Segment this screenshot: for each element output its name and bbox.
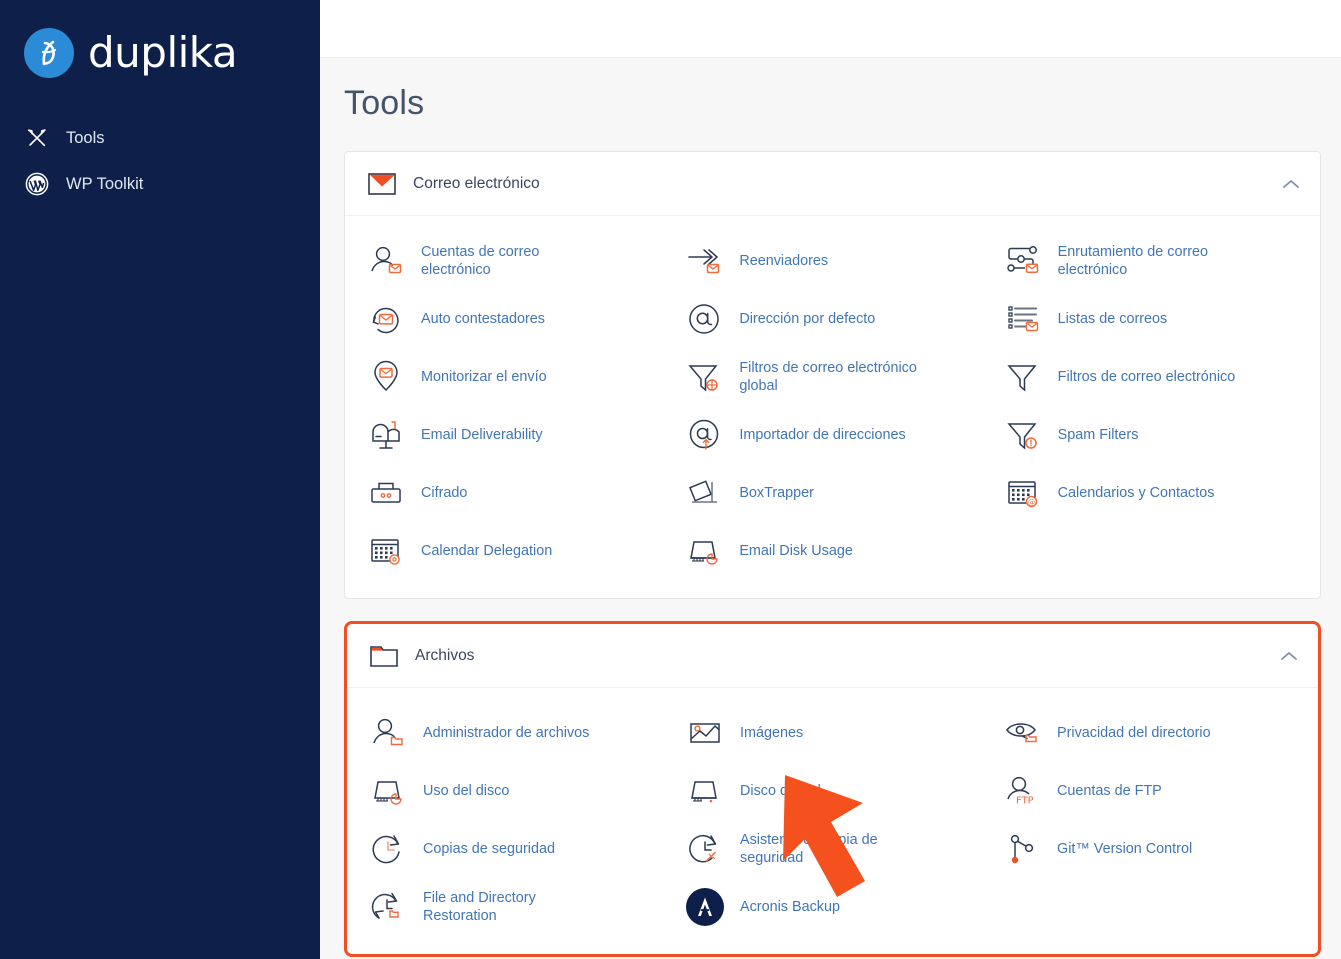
- tool-label: Copias de seguridad: [423, 840, 555, 858]
- content-area: Correo electrónico: [320, 123, 1341, 959]
- tool-email-disk-usage[interactable]: Email Disk Usage: [673, 522, 991, 580]
- section-correo-electronico: Correo electrónico: [344, 151, 1321, 599]
- top-bar: [320, 0, 1341, 58]
- tool-file-and-directory-restoration[interactable]: File and Directory Restoration: [357, 878, 674, 936]
- tool-label: Importador de direcciones: [739, 426, 905, 444]
- global-filter-icon: [685, 358, 723, 396]
- section-body: Cuentas de correo electrónico: [345, 216, 1320, 598]
- tool-enrutamiento-de-correo-electronico[interactable]: Enrutamiento de correo electrónico: [992, 232, 1310, 290]
- network-disk-icon: [686, 772, 724, 810]
- tool-label: Administrador de archivos: [423, 724, 589, 742]
- tool-acronis-backup[interactable]: Acronis Backup: [674, 878, 991, 936]
- app-root: duplika Tools: [0, 0, 1341, 959]
- filter-icon: [1004, 358, 1042, 396]
- tool-label: Listas de correos: [1058, 310, 1168, 328]
- section-archivos: Archivos: [344, 621, 1321, 957]
- chevron-up-icon[interactable]: [1280, 173, 1302, 195]
- sidebar: duplika Tools: [0, 0, 320, 959]
- tool-label: Enrutamiento de correo electrónico: [1058, 243, 1248, 280]
- tool-listas-de-correos[interactable]: Listas de correos: [992, 290, 1310, 348]
- duplika-logo-icon: [24, 28, 74, 78]
- tool-filtros-de-correo-electronico[interactable]: Filtros de correo electrónico: [992, 348, 1310, 406]
- chevron-up-icon[interactable]: [1278, 645, 1300, 667]
- wordpress-icon: [24, 171, 50, 197]
- brand[interactable]: duplika: [0, 0, 320, 80]
- backup-wizard-icon: [686, 830, 724, 868]
- tool-copias-de-seguridad[interactable]: Copias de seguridad: [357, 820, 674, 878]
- tool-label: Asistente de copia de seguridad: [740, 831, 930, 868]
- page-title: Tools: [320, 58, 1341, 123]
- section-title: Archivos: [415, 647, 474, 665]
- tool-label: Filtros de correo electrónico: [1058, 368, 1236, 386]
- tool-asistente-de-copia-de-seguridad[interactable]: Asistente de copia de seguridad: [674, 820, 991, 878]
- at-circle-icon: [685, 300, 723, 338]
- tool-label: Auto contestadores: [421, 310, 545, 328]
- tool-git-version-control[interactable]: Git™ Version Control: [991, 820, 1308, 878]
- tool-importador-de-direcciones[interactable]: Importador de direcciones: [673, 406, 991, 464]
- tools-grid: Cuentas de correo electrónico: [355, 232, 1310, 580]
- mail-routing-icon: [1004, 242, 1042, 280]
- tool-filtros-de-correo-electronico-global[interactable]: Filtros de correo electrónico global: [673, 348, 991, 406]
- directory-privacy-eye-icon: [1003, 714, 1041, 752]
- svg-text:@: @: [1028, 498, 1035, 506]
- tool-administrador-de-archivos[interactable]: Administrador de archivos: [357, 704, 674, 762]
- email-disk-usage-icon: [685, 532, 723, 570]
- tool-label: Email Disk Usage: [739, 542, 853, 560]
- envelope-icon: [367, 169, 397, 199]
- user-mail-icon: [367, 242, 405, 280]
- images-icon: [686, 714, 724, 752]
- git-branch-icon: [1003, 830, 1041, 868]
- backup-clock-icon: [369, 830, 407, 868]
- tool-email-deliverability[interactable]: Email Deliverability: [355, 406, 673, 464]
- section-header[interactable]: Correo electrónico: [345, 152, 1320, 216]
- tools-wrench-icon: [24, 125, 50, 151]
- sidebar-item-label: Tools: [66, 129, 105, 148]
- tool-label: Disco de red: [740, 782, 821, 800]
- tool-label: Calendar Delegation: [421, 542, 552, 560]
- tool-label: File and Directory Restoration: [423, 889, 613, 926]
- tool-label: Uso del disco: [423, 782, 509, 800]
- acronis-badge-icon: [686, 888, 724, 926]
- tool-cuentas-de-ftp[interactable]: FTP Cuentas de FTP: [991, 762, 1308, 820]
- main-content: Tools Correo electrónico: [320, 0, 1341, 959]
- svg-text:FTP: FTP: [1016, 796, 1034, 807]
- user-folder-icon: [369, 714, 407, 752]
- tool-direccion-por-defecto[interactable]: Dirección por defecto: [673, 290, 991, 348]
- tool-label: Acronis Backup: [740, 898, 840, 916]
- tool-imagenes[interactable]: Imágenes: [674, 704, 991, 762]
- tools-grid: Administrador de archivos Imágenes: [357, 704, 1308, 936]
- tool-label: Cifrado: [421, 484, 467, 502]
- tool-label: Cuentas de FTP: [1057, 782, 1162, 800]
- encryption-lock-icon: [367, 474, 405, 512]
- tool-uso-del-disco[interactable]: Uso del disco: [357, 762, 674, 820]
- disk-usage-icon: [369, 772, 407, 810]
- folder-icon: [369, 641, 399, 671]
- tool-boxtrapper[interactable]: BoxTrapper: [673, 464, 991, 522]
- sidebar-item-tools[interactable]: Tools: [0, 115, 320, 161]
- sidebar-item-wp-toolkit[interactable]: WP Toolkit: [0, 161, 320, 207]
- tool-label: Calendarios y Contactos: [1058, 484, 1215, 502]
- tool-label: BoxTrapper: [739, 484, 814, 502]
- tool-monitorizar-el-envio[interactable]: Monitorizar el envío: [355, 348, 673, 406]
- tool-label: Privacidad del directorio: [1057, 724, 1211, 742]
- ftp-accounts-icon: FTP: [1003, 772, 1041, 810]
- mailbox-icon: [367, 416, 405, 454]
- tool-label: Monitorizar el envío: [421, 368, 547, 386]
- brand-name: duplika: [88, 32, 237, 74]
- tool-privacidad-del-directorio[interactable]: Privacidad del directorio: [991, 704, 1308, 762]
- forwarders-arrow-icon: [685, 242, 723, 280]
- tool-spam-filters[interactable]: Spam Filters: [992, 406, 1310, 464]
- tool-label: Spam Filters: [1058, 426, 1139, 444]
- mailing-list-icon: [1004, 300, 1042, 338]
- boxtrapper-icon: [685, 474, 723, 512]
- tool-label: Email Deliverability: [421, 426, 543, 444]
- section-header[interactable]: Archivos: [347, 624, 1318, 688]
- tool-disco-de-red[interactable]: Disco de red: [674, 762, 991, 820]
- sidebar-item-label: WP Toolkit: [66, 175, 143, 194]
- sidebar-nav: Tools WP Toolkit: [0, 115, 320, 207]
- calendar-contacts-icon: @: [1004, 474, 1042, 512]
- autoresponder-icon: [367, 300, 405, 338]
- tool-label: Reenviadores: [739, 252, 828, 270]
- tool-reenviadores[interactable]: Reenviadores: [673, 232, 991, 290]
- section-title: Correo electrónico: [413, 175, 540, 193]
- tool-label: Git™ Version Control: [1057, 840, 1192, 858]
- tool-label: Filtros de correo electrónico global: [739, 359, 929, 396]
- tool-cifrado[interactable]: Cifrado: [355, 464, 673, 522]
- address-importer-icon: [685, 416, 723, 454]
- track-delivery-pin-icon: [367, 358, 405, 396]
- spam-filter-icon: [1004, 416, 1042, 454]
- calendar-delegation-icon: [367, 532, 405, 570]
- tool-label: Cuentas de correo electrónico: [421, 243, 611, 280]
- tool-cuentas-de-correo-electronico[interactable]: Cuentas de correo electrónico: [355, 232, 673, 290]
- tool-auto-contestadores[interactable]: Auto contestadores: [355, 290, 673, 348]
- tool-calendar-delegation[interactable]: Calendar Delegation: [355, 522, 673, 580]
- tool-calendarios-y-contactos[interactable]: @ Calendarios y Contactos: [992, 464, 1310, 522]
- tool-label: Imágenes: [740, 724, 803, 742]
- tool-label: Dirección por defecto: [739, 310, 875, 328]
- section-body: Administrador de archivos Imágenes: [347, 688, 1318, 954]
- file-restore-icon: [369, 888, 407, 926]
